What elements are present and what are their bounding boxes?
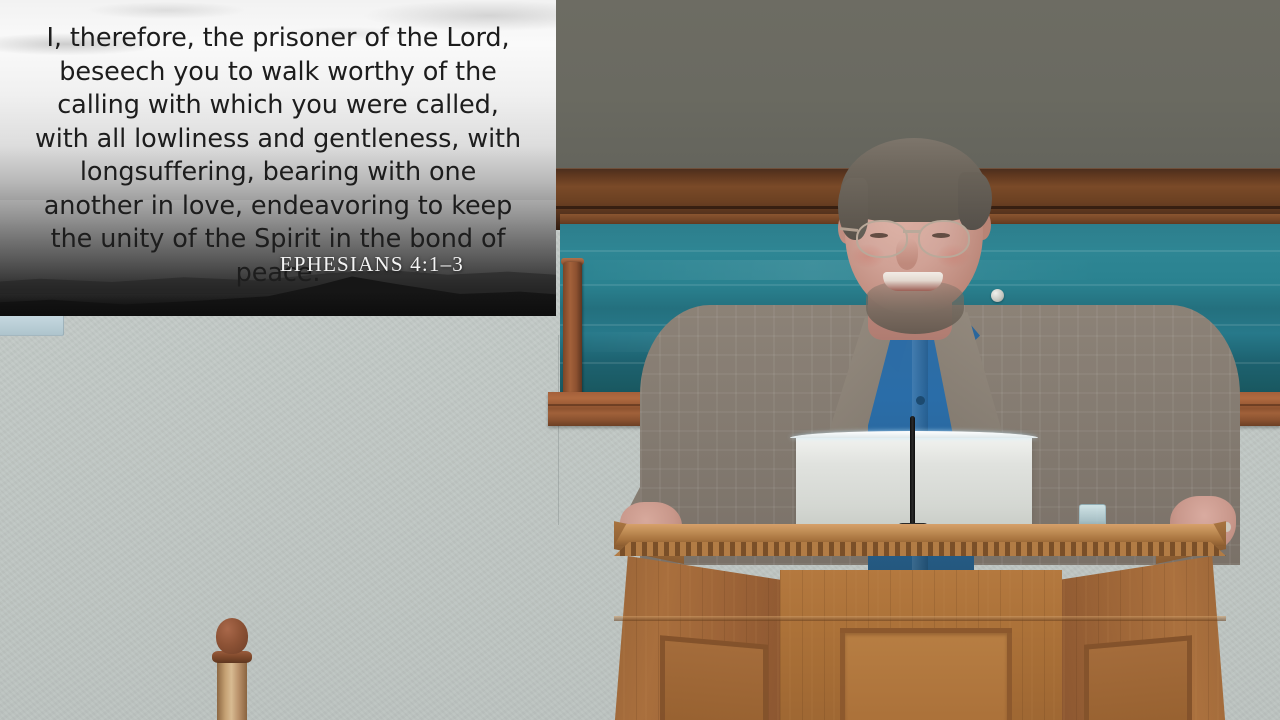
pulpit-panel-left: [660, 635, 768, 720]
pulpit: [614, 512, 1226, 720]
pulpit-panel-right: [1084, 635, 1192, 720]
lapel-pin-icon: [991, 289, 1004, 302]
wall-seam-line: [558, 335, 559, 525]
pulpit-rail: [614, 616, 1226, 621]
pulpit-dentil-molding: [614, 542, 1226, 556]
livestream-frame: I, therefore, the prisoner of the Lord, …: [0, 0, 1280, 720]
eyeglasses-lens-left: [856, 220, 908, 258]
eyeglasses-lens-right: [918, 220, 970, 258]
slide-bottom-fade: [0, 292, 556, 316]
scripture-slide: I, therefore, the prisoner of the Lord, …: [0, 0, 556, 316]
finial-shaft: [217, 662, 247, 720]
speaker-mouth: [883, 272, 943, 291]
pulpit-panel-center: [840, 628, 1012, 720]
baptistry-post: [563, 262, 582, 402]
finial-post: [205, 618, 259, 720]
scripture-verse-text: I, therefore, the prisoner of the Lord, …: [28, 22, 528, 290]
finial-ball: [216, 618, 248, 654]
eyeglasses-bridge: [903, 230, 920, 233]
shirt-button: [916, 396, 925, 405]
gooseneck-microphone: [910, 416, 915, 528]
scripture-reference: EPHESIANS 4:1–3: [28, 252, 464, 277]
